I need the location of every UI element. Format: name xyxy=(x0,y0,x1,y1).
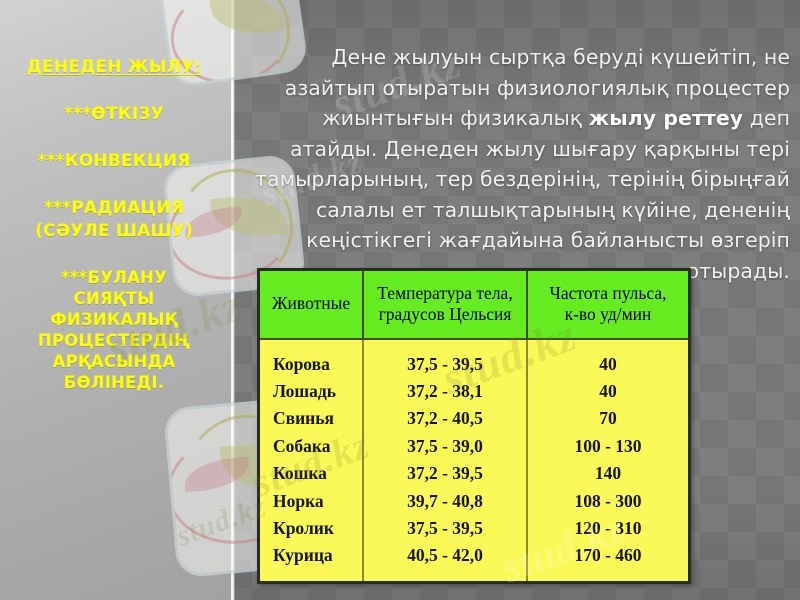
table-cell-temperature: 40,5 - 42,0 xyxy=(363,542,527,569)
table-header-pulse-rate: Частота пульса, к-во уд/мин xyxy=(527,271,688,339)
sidebar-bullet-evaporation-line6: БӨЛІНЕДІ. xyxy=(0,372,228,393)
table-row: Норка 39,7 - 40,8 108 - 300 xyxy=(260,487,688,514)
slide-canvas: ДЕНЕДЕН ЖЫЛУ: ***ӨТКІЗУ ***КОНВЕКЦИЯ ***… xyxy=(0,0,800,600)
table-cell-temperature: 37,5 - 39,5 xyxy=(363,350,527,377)
table-header-row: Животные Температура тела, градусов Цель… xyxy=(260,271,688,339)
sidebar-bullet-evaporation-line2: СИЯҚТЫ xyxy=(0,288,228,309)
table-cell-temperature: 37,2 - 39,5 xyxy=(363,460,527,487)
table-cell-pulse: 40 xyxy=(527,378,688,405)
table-cell-pulse: 40 xyxy=(527,350,688,377)
table-body: Корова 37,5 - 39,5 40 Лошадь 37,2 - 38,1… xyxy=(260,339,688,581)
table-cell-animal: Курица xyxy=(260,542,363,569)
table-header-animals: Животные xyxy=(260,271,363,339)
table-cell-pulse: 100 - 130 xyxy=(527,433,688,460)
sidebar-bullet-evaporation-line4: ПРОЦЕСТЕРДІҢ xyxy=(0,330,228,351)
table-row: Лошадь 37,2 - 38,1 40 xyxy=(260,378,688,405)
table-cell-animal: Кошка xyxy=(260,460,363,487)
table-spacer-row-bottom xyxy=(260,570,688,581)
table-header-body-temperature: Температура тела, градусов Цельсия xyxy=(363,271,527,339)
table-header-body-temperature-line1: Температура тела, xyxy=(370,283,520,304)
body-paragraph: Дене жылуын сыртқа беруді күшейтіп, не а… xyxy=(252,42,790,286)
table-cell-animal: Норка xyxy=(260,487,363,514)
sidebar-text-block: ДЕНЕДЕН ЖЫЛУ: ***ӨТКІЗУ ***КОНВЕКЦИЯ ***… xyxy=(0,56,228,393)
table-cell-pulse: 140 xyxy=(527,460,688,487)
sidebar-bullet-radiation-line1: ***РАДИАЦИЯ xyxy=(0,197,228,220)
table-row: Свинья 37,2 - 40,5 70 xyxy=(260,405,688,432)
table-header-body-temperature-line2: градусов Цельсия xyxy=(370,304,520,325)
table-row: Кошка 37,2 - 39,5 140 xyxy=(260,460,688,487)
table-row: Курица 40,5 - 42,0 170 - 460 xyxy=(260,542,688,569)
sidebar-bullet-convection: ***КОНВЕКЦИЯ xyxy=(0,150,228,173)
table-cell-pulse: 170 - 460 xyxy=(527,542,688,569)
table-row: Корова 37,5 - 39,5 40 xyxy=(260,350,688,377)
table-cell-animal: Свинья xyxy=(260,405,363,432)
animal-vitals-table: Животные Температура тела, градусов Цель… xyxy=(257,268,691,584)
table-cell-animal: Кролик xyxy=(260,515,363,542)
table-spacer-row-top xyxy=(260,339,688,350)
table-cell-temperature: 39,7 - 40,8 xyxy=(363,487,527,514)
sidebar-bullet-evaporation-line5: АРҚАСЫНДА xyxy=(0,351,228,372)
table-cell-pulse: 120 - 310 xyxy=(527,515,688,542)
sidebar-bullet-conduction: ***ӨТКІЗУ xyxy=(0,103,228,126)
table-cell-animal: Собака xyxy=(260,433,363,460)
table-cell-animal: Корова xyxy=(260,350,363,377)
table-header-pulse-rate-line1: Частота пульса, xyxy=(534,283,682,304)
table-row: Кролик 37,5 - 39,5 120 - 310 xyxy=(260,515,688,542)
table-cell-temperature: 37,2 - 38,1 xyxy=(363,378,527,405)
body-paragraph-part2: деп атайды. Денеден жылу шығару қарқыны … xyxy=(255,106,790,283)
sidebar-bullet-evaporation-line3: ФИЗИКАЛЫҚ xyxy=(0,309,228,330)
sidebar-bullet-radiation: ***РАДИАЦИЯ (СӘУЛЕ ШАШУ) xyxy=(0,197,228,243)
table-cell-pulse: 108 - 300 xyxy=(527,487,688,514)
table-cell-temperature: 37,5 - 39,5 xyxy=(363,515,527,542)
table-cell-pulse: 70 xyxy=(527,405,688,432)
table-row: Собака 37,5 - 39,0 100 - 130 xyxy=(260,433,688,460)
sidebar-bullet-evaporation: ***БУЛАНУ СИЯҚТЫ ФИЗИКАЛЫҚ ПРОЦЕСТЕРДІҢ … xyxy=(0,267,228,393)
sidebar-heading: ДЕНЕДЕН ЖЫЛУ: xyxy=(0,56,228,79)
table-header-pulse-rate-line2: к-во уд/мин xyxy=(534,304,682,325)
body-paragraph-emphasis: жылу реттеу xyxy=(589,106,743,130)
table-cell-animal: Лошадь xyxy=(260,378,363,405)
sidebar-bullet-radiation-line2: (СӘУЛЕ ШАШУ) xyxy=(0,220,228,243)
table-cell-temperature: 37,2 - 40,5 xyxy=(363,405,527,432)
table-cell-temperature: 37,5 - 39,0 xyxy=(363,433,527,460)
sidebar-bullet-evaporation-line1: ***БУЛАНУ xyxy=(0,267,228,288)
